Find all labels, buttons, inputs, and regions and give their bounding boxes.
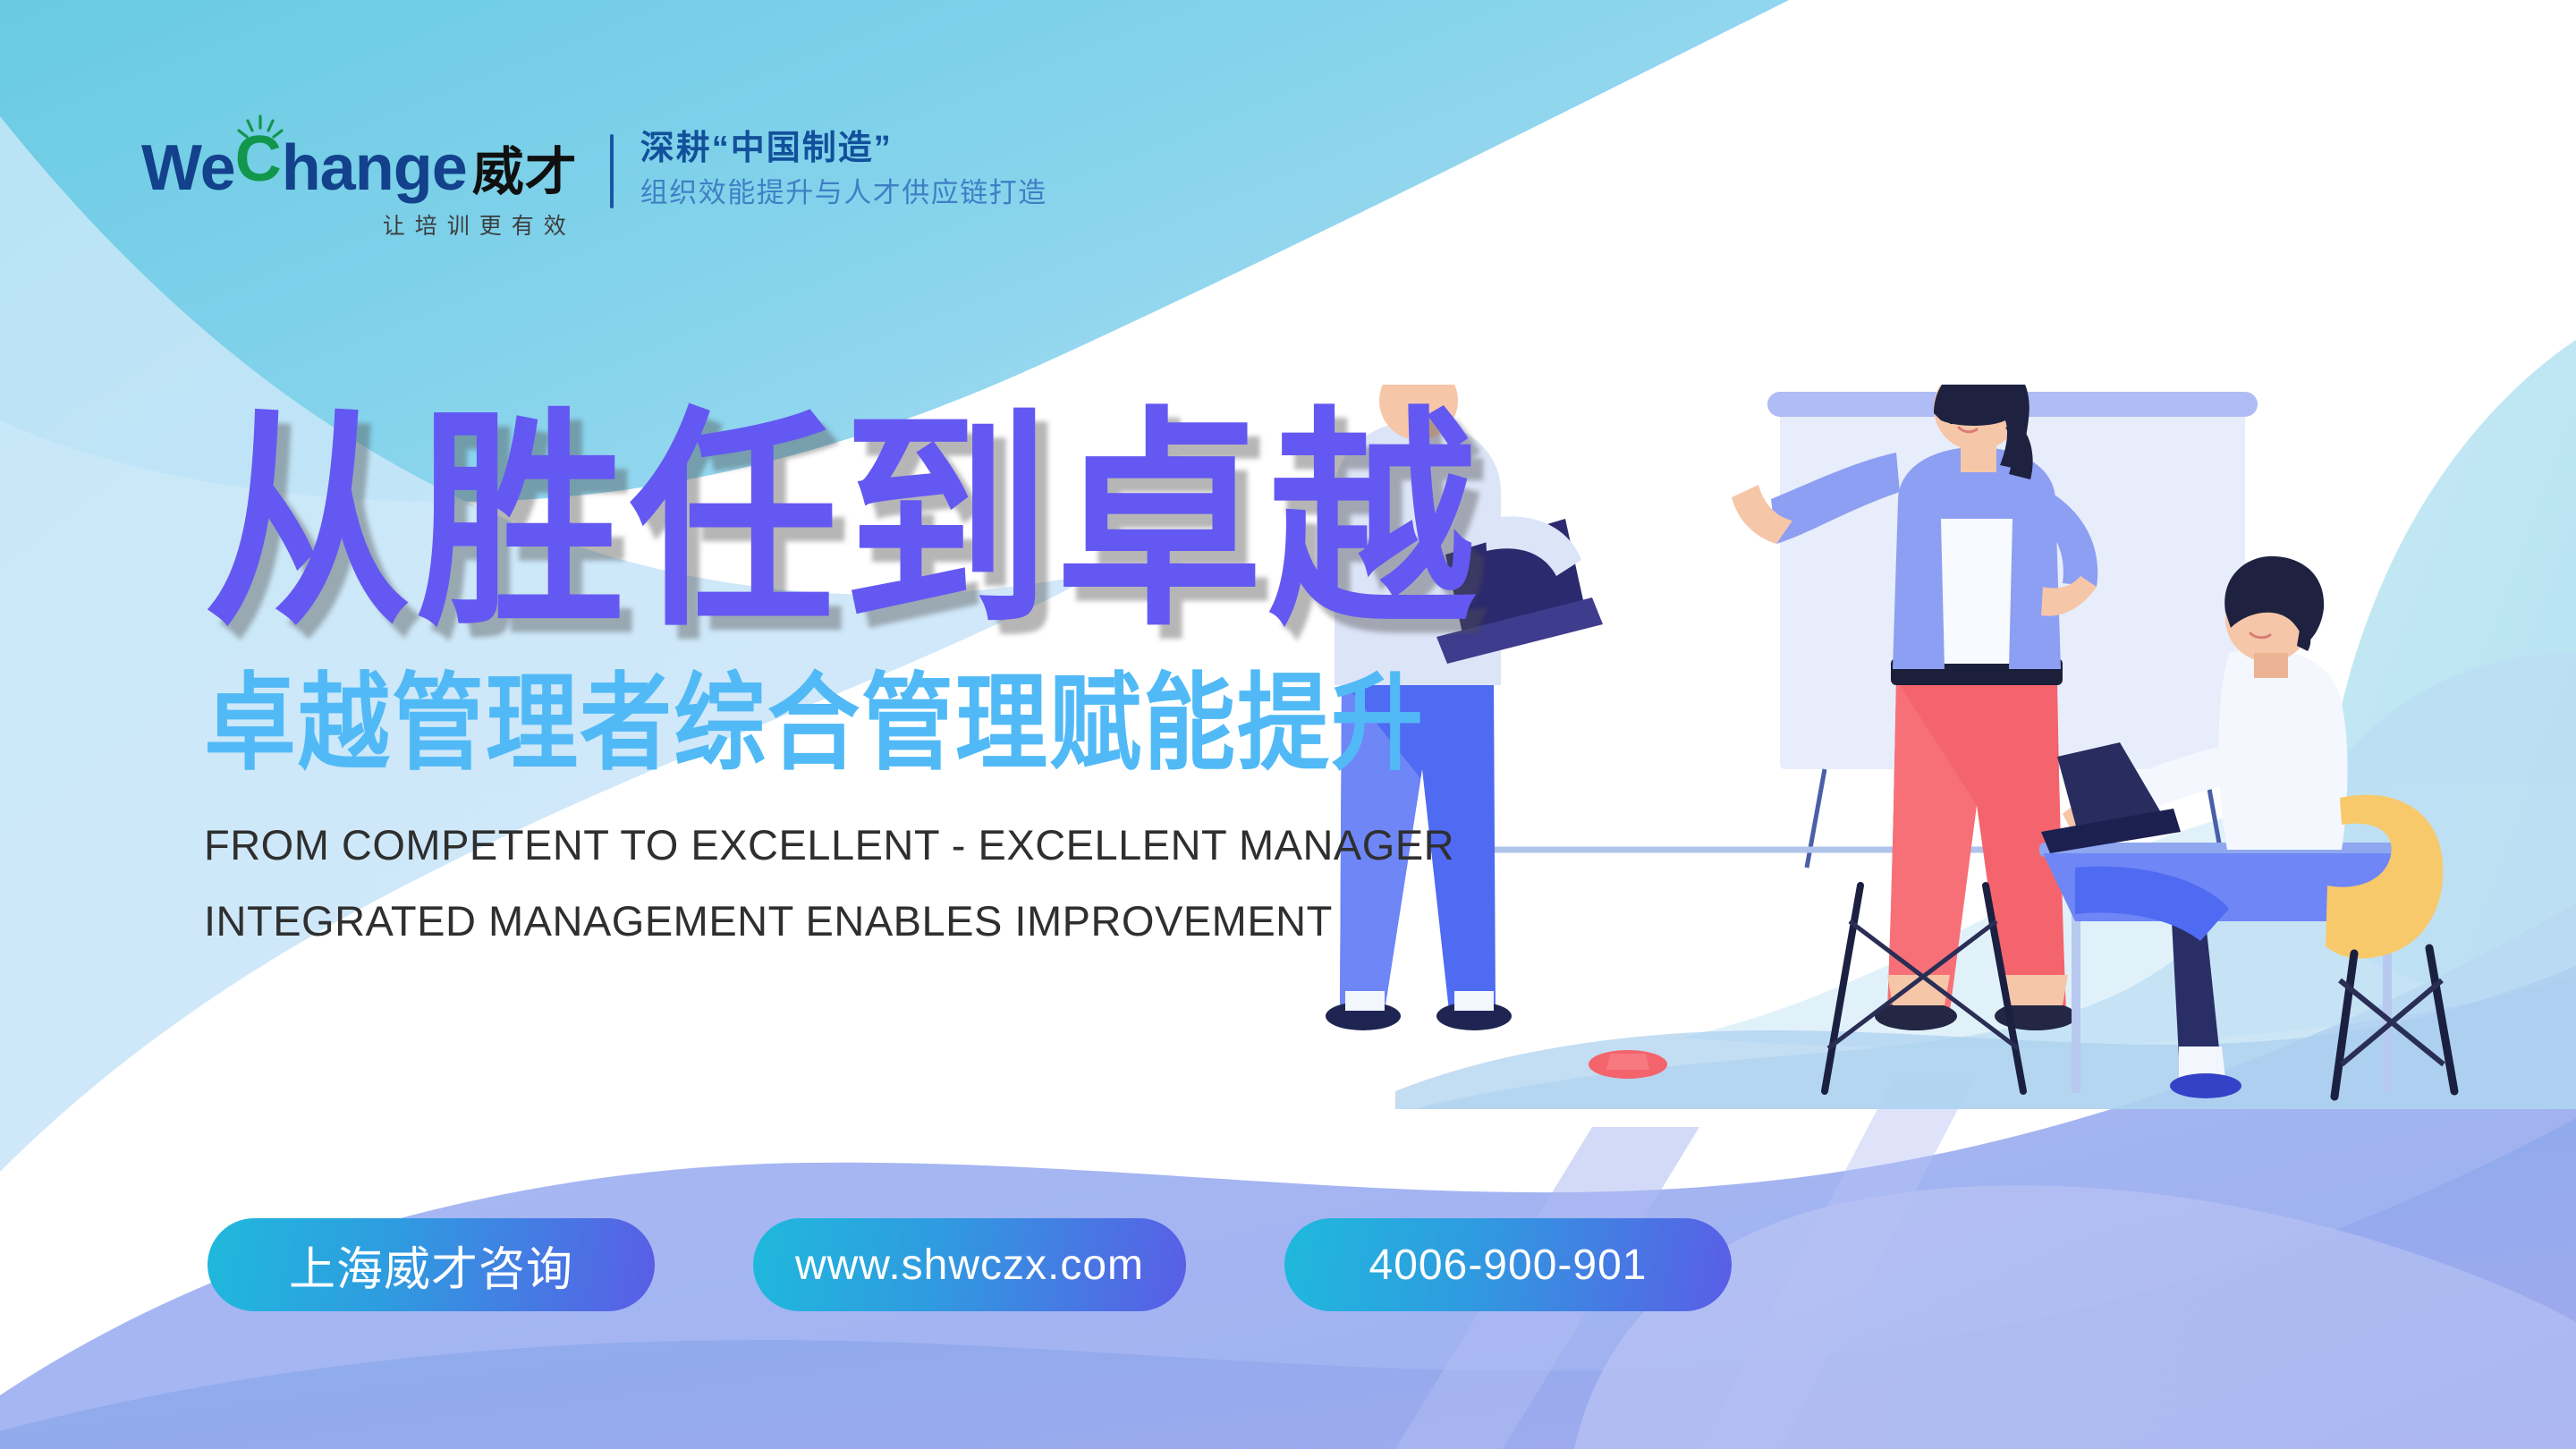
headline-block: 从胜任到卓越 卓越管理者综合管理赋能提升 FROM COMPETENT TO E…	[204, 404, 1481, 942]
pill-company[interactable]: 上海威才咨询	[208, 1218, 655, 1311]
slogan-secondary: 组织效能提升与人才供应链打造	[640, 177, 1047, 210]
header-divider	[610, 134, 614, 208]
slogan-primary: 深耕“中国制造”	[640, 129, 1047, 169]
logo-c-mark: C	[235, 125, 287, 190]
page-title: 从胜任到卓越	[204, 404, 1481, 644]
logo-text-chinese: 威才	[472, 147, 578, 199]
pill-website[interactable]: www.shwczx.com	[753, 1218, 1186, 1311]
logo-letter-c: C	[235, 127, 282, 191]
page-title-english: FROM COMPETENT TO EXCELLENT - EXCELLENT …	[204, 824, 1481, 942]
logo-text-hange: hange	[282, 136, 467, 200]
logo-wordmark: We C hange 威才	[141, 125, 578, 200]
pill-phone[interactable]: 4006-900-901	[1284, 1218, 1732, 1311]
brand-header: We C hange 威才	[141, 125, 1047, 241]
poster-canvas: We C hange 威才	[0, 0, 2576, 1449]
english-line-1: FROM COMPETENT TO EXCELLENT - EXCELLENT …	[204, 821, 1454, 869]
english-line-2: INTEGRATED MANAGEMENT ENABLES IMPROVEMEN…	[204, 900, 1481, 942]
page-subtitle: 卓越管理者综合管理赋能提升	[204, 668, 1481, 779]
slogan-block: 深耕“中国制造” 组织效能提升与人才供应链打造	[640, 125, 1047, 209]
contact-pill-group: 上海威才咨询 www.shwczx.com 4006-900-901	[208, 1218, 1732, 1311]
logo-block[interactable]: We C hange 威才	[141, 125, 578, 241]
logo-tagline: 让培训更有效	[383, 208, 576, 241]
logo-text-we: We	[141, 136, 235, 200]
